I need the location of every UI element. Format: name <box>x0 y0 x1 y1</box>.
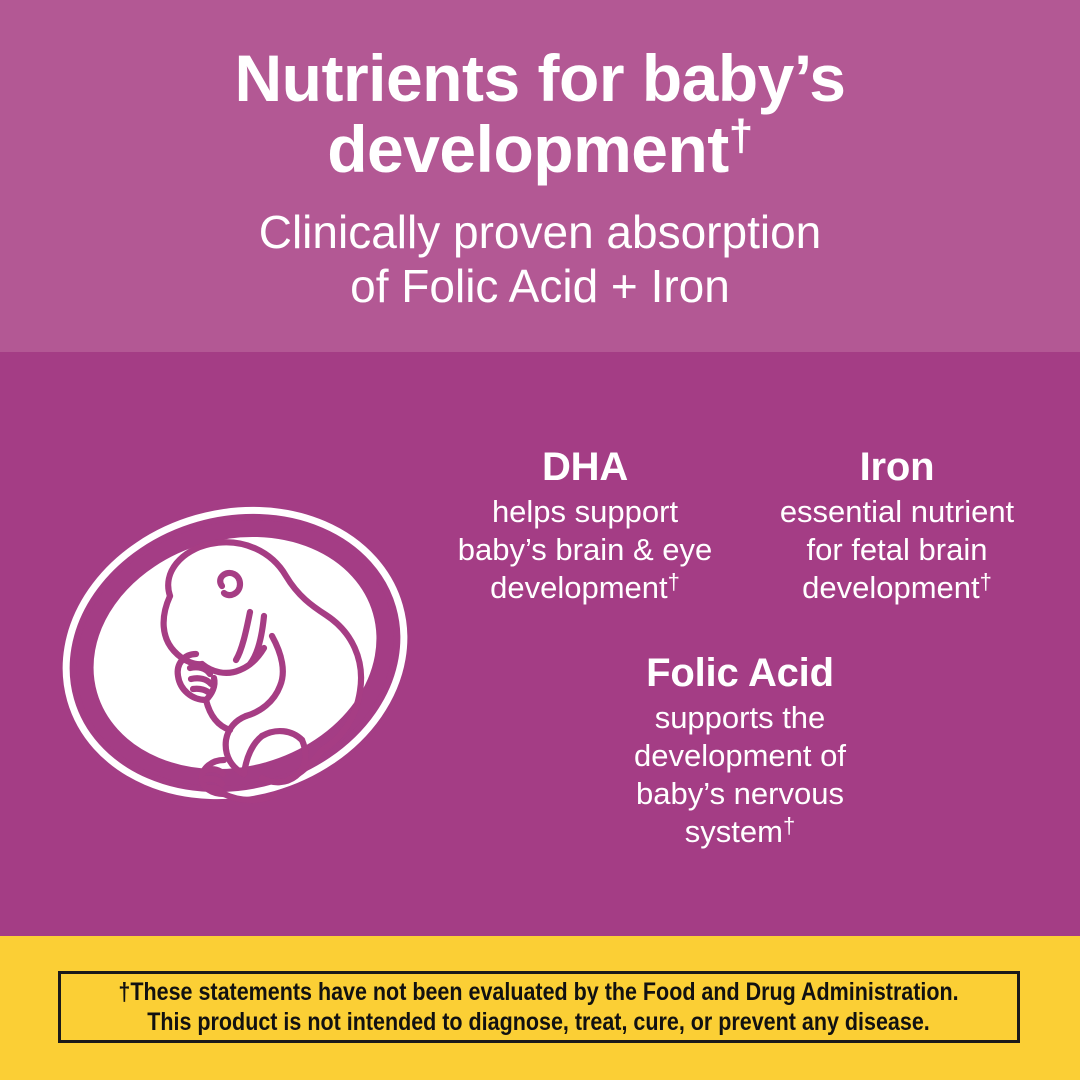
nutrient-title-dha: DHA <box>440 446 730 489</box>
headline-line-1: Nutrients for baby’s <box>235 41 846 115</box>
subhead-line-1: Clinically proven absorption <box>259 206 822 258</box>
nutrient-block-folic-acid: Folic Acid supports the development of b… <box>592 652 888 850</box>
folic-desc-line-3: baby’s nervous <box>636 776 844 811</box>
nutrient-block-dha: DHA helps support baby’s brain & eye dev… <box>440 446 730 607</box>
dha-desc-line-2: baby’s brain & eye <box>458 532 712 567</box>
disclaimer-text: †These statements have not been evaluate… <box>119 977 959 1038</box>
page-subtitle: Clinically proven absorption of Folic Ac… <box>0 205 1080 314</box>
folic-desc-line-1: supports the <box>655 700 826 735</box>
iron-desc-line-1: essential nutrient <box>780 494 1014 529</box>
nutrient-desc-iron: essential nutrient for fetal brain devel… <box>752 493 1042 606</box>
disclaimer-line-1: †These statements have not been evaluate… <box>119 978 959 1006</box>
page-title: Nutrients for baby’s development† <box>0 44 1080 183</box>
subhead-line-2: of Folic Acid + Iron <box>350 260 730 312</box>
nutrient-title-folic-acid: Folic Acid <box>592 652 888 695</box>
disclaimer-line-2: This product is not intended to diagnose… <box>148 1008 931 1036</box>
product-info-graphic: Nutrients for baby’s development† Clinic… <box>0 0 1080 1080</box>
iron-desc-line-2: for fetal brain <box>807 532 988 567</box>
content-band: DHA helps support baby’s brain & eye dev… <box>0 352 1080 936</box>
dha-desc-line-1: helps support <box>492 494 678 529</box>
disclaimer-box: †These statements have not been evaluate… <box>58 971 1020 1043</box>
dagger-symbol: † <box>783 813 795 838</box>
dagger-symbol: † <box>980 569 992 594</box>
dha-desc-line-3: development <box>490 570 668 605</box>
nutrient-desc-folic-acid: supports the development of baby’s nervo… <box>592 699 888 850</box>
iron-desc-line-3: development <box>802 570 980 605</box>
folic-desc-line-4: system <box>685 814 783 849</box>
headline-line-2: development <box>327 112 729 186</box>
dagger-symbol: † <box>729 111 753 160</box>
fetus-in-womb-illustration <box>50 468 420 838</box>
nutrient-desc-dha: helps support baby’s brain & eye develop… <box>440 493 730 606</box>
nutrient-block-iron: Iron essential nutrient for fetal brain … <box>752 446 1042 607</box>
header-band: Nutrients for baby’s development† Clinic… <box>0 0 1080 352</box>
dagger-symbol: † <box>668 569 680 594</box>
footer-band: †These statements have not been evaluate… <box>0 936 1080 1080</box>
folic-desc-line-2: development of <box>634 738 846 773</box>
nutrient-title-iron: Iron <box>752 446 1042 489</box>
